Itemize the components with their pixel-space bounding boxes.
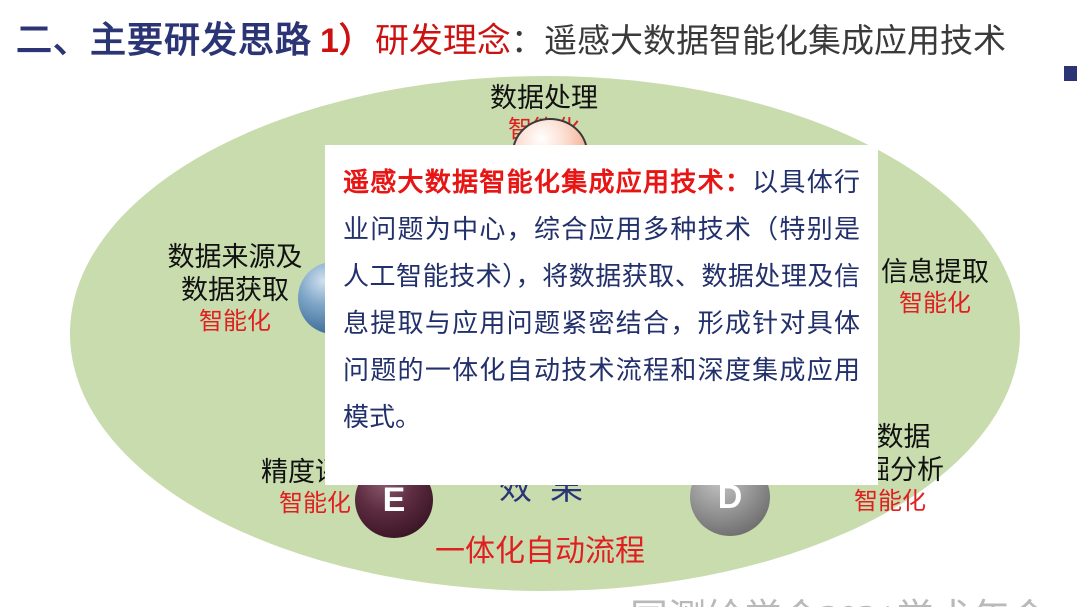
node-title-data-processing: 数据处理 [490,83,598,113]
title-concept-label: 研发理念 [375,16,511,68]
title-index-label: 1） [320,15,373,67]
callout-textbox: 遥感大数据智能化集成应用技术：以具体行业问题为中心，综合应用多种技术（特别是人工… [325,145,878,485]
node-sub-big-data-mining: 智能化 [775,487,1005,517]
title-subject-label: ：遥感大数据智能化集成应用技术 [511,16,1006,68]
conference-watermark: 国测绘学会2021学术年会 [630,587,1048,607]
callout-body: 以具体行业问题为中心，综合应用多种技术（特别是人工智能技术），将数据获取、数据处… [343,168,860,432]
node-title-data-source-line2: 数据获取 [181,275,289,305]
node-title-information-extraction: 信息提取 [881,257,989,287]
title-section-label: 二、主要研发思路 [16,14,312,66]
node-title-data-source-line1: 数据来源及 [168,242,303,272]
callout-heading: 遥感大数据智能化集成应用技术： [343,168,752,197]
callout-paragraph: 遥感大数据智能化集成应用技术：以具体行业问题为中心，综合应用多种技术（特别是人工… [343,159,860,441]
slide-canvas: 二、主要研发思路1）研发理念：遥感大数据智能化集成应用技术 数据处理 智能化 数… [0,0,1080,607]
slide-title: 二、主要研发思路1）研发理念：遥感大数据智能化集成应用技术 [0,14,1080,66]
diagram-flow-label: 一体化自动流程 [390,526,690,570]
